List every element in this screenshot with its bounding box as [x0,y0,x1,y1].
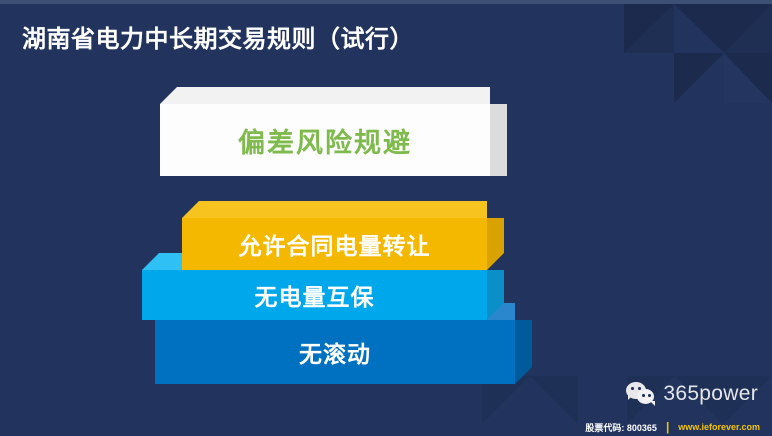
page-title: 湖南省电力中长期交易规则（试行） [22,19,414,54]
box-side-face [487,218,504,270]
wechat-eye-dot [642,394,645,397]
box-side-face [490,104,507,176]
pyramid-level-no-mutual-guarantee: 无电量互保 [142,270,487,320]
slide-canvas: 湖南省电力中长期交易规则（试行） 无滚动 无电量互保 允许合同电量转让 偏差风险… [0,0,772,436]
wechat-eye-dot [638,387,641,390]
box-top-face [182,201,487,218]
pyramid-level-label: 无滚动 [155,320,515,384]
box-top-face [160,87,490,104]
wechat-icon [626,382,656,406]
pyramid-level-label: 允许合同电量转让 [182,218,487,270]
website-link[interactable]: www.ieforever.com [678,422,760,432]
pyramid-level-contract-transfer: 允许合同电量转让 [182,218,487,270]
footer-separator: | [666,420,669,434]
wechat-bubble-tail [628,395,633,400]
brand-watermark: 365power [626,382,758,406]
wechat-eye-dot [631,387,634,390]
wechat-bubble-tail [650,401,655,406]
footer-info-bar: 股票代码: 800365 | www.ieforever.com [585,420,772,434]
pyramid-level-no-rolling: 无滚动 [155,320,515,384]
pyramid-level-label: 无电量互保 [142,270,487,320]
pyramid-level-label: 偏差风险规避 [160,104,490,176]
box-side-face [515,320,532,384]
brand-account-name: 365power [663,382,758,406]
pyramid-stack: 无滚动 无电量互保 允许合同电量转让 偏差风险规避 [0,0,772,436]
stock-code-label: 股票代码: 800365 [585,421,657,434]
wechat-eye-dot [648,394,651,397]
pyramid-level-deviation-risk: 偏差风险规避 [160,104,490,176]
